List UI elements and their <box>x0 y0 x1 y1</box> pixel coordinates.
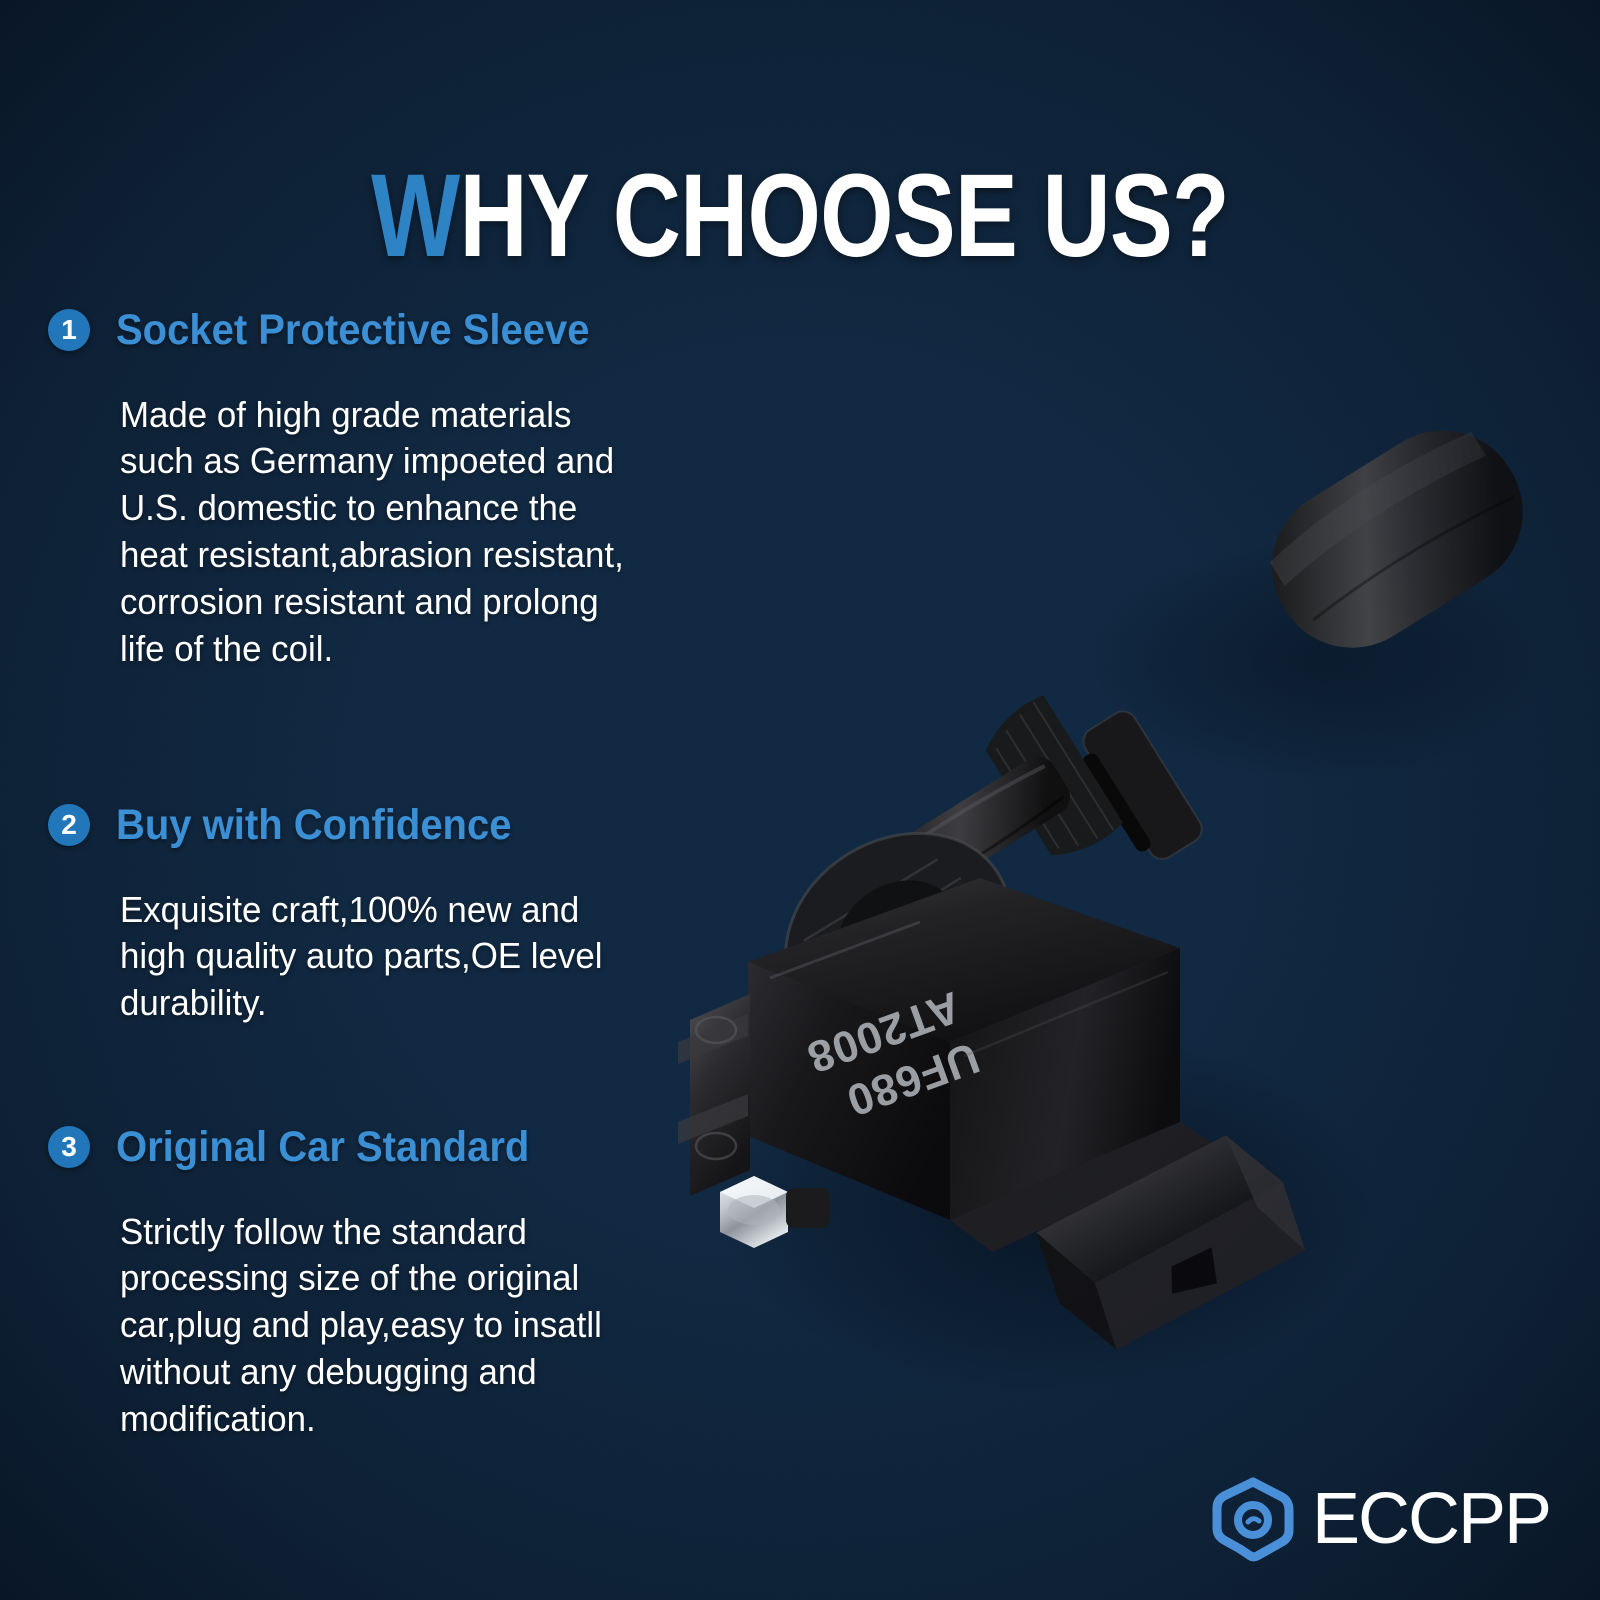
feature-2-body: Exquisite craft,100% new and high qualit… <box>120 887 739 1028</box>
feature-2-number-badge: 2 <box>48 804 90 846</box>
feature-2-header: 2 Buy with Confidence <box>48 800 768 850</box>
feature-1-heading: Socket Protective Sleeve <box>116 306 589 355</box>
feature-1-header: 1 Socket Protective Sleeve <box>48 305 768 355</box>
title-rest: HY CHOOSE US? <box>459 150 1228 282</box>
eccpp-wordmark: ECCPP <box>1312 1483 1550 1555</box>
feature-3-number-badge: 3 <box>48 1126 90 1168</box>
eccpp-logo: ECCPP <box>1210 1476 1550 1562</box>
feature-item-1: 1 Socket Protective Sleeve Made of high … <box>48 305 768 709</box>
feature-1-number-badge: 1 <box>48 309 90 351</box>
part-number-text: UF680 <box>840 1033 986 1126</box>
page-title: WHY CHOOSE US? <box>160 157 1440 275</box>
hexagon-ring-icon <box>1210 1476 1296 1562</box>
feature-3-heading: Original Car Standard <box>116 1123 529 1172</box>
feature-item-2: 2 Buy with Confidence Exquisite craft,10… <box>48 800 768 1064</box>
secondary-code-text: AT2008 <box>800 982 966 1083</box>
infographic-canvas: UF680 AT2008 WHY <box>0 0 1600 1600</box>
feature-item-3: 3 Original Car Standard Strictly follow … <box>48 1122 768 1479</box>
feature-3-header: 3 Original Car Standard <box>48 1122 768 1172</box>
title-lead-letter: W <box>371 150 459 282</box>
feature-3-body: Strictly follow the standard processing … <box>120 1209 739 1443</box>
feature-2-heading: Buy with Confidence <box>116 801 511 850</box>
feature-1-body: Made of high grade materials such as Ger… <box>120 392 739 673</box>
